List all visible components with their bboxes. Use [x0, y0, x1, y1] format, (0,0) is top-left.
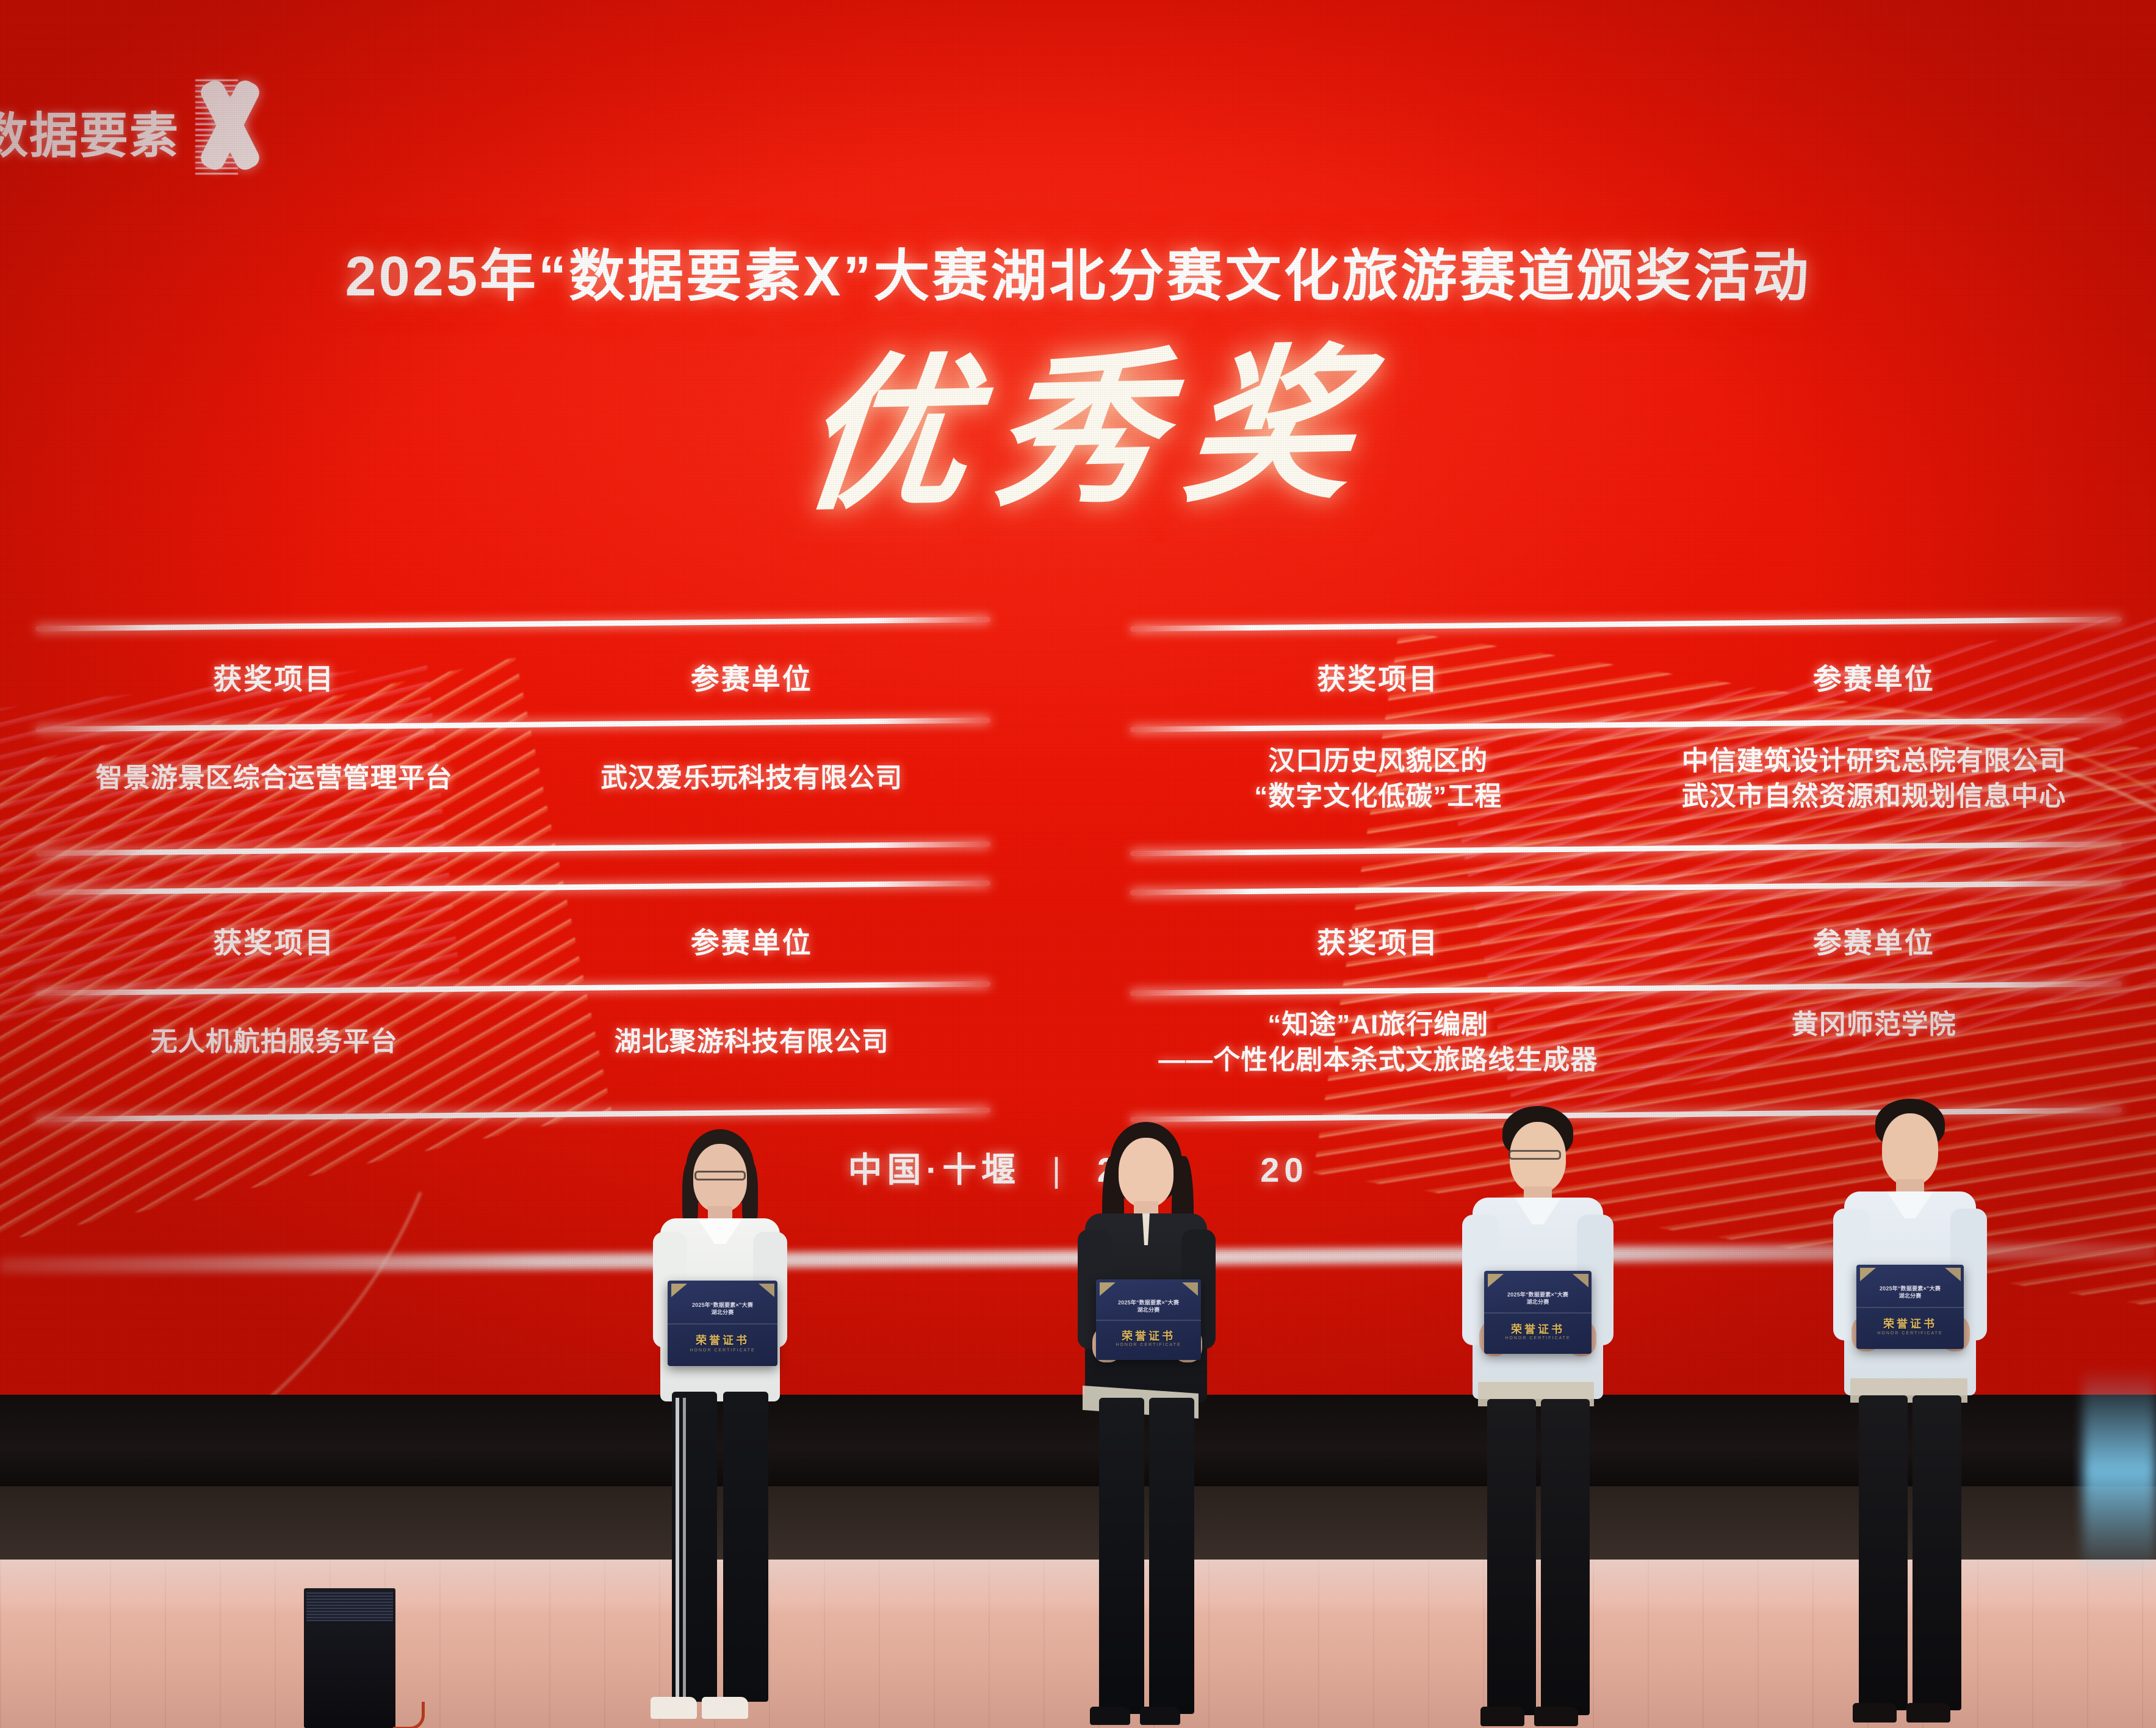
table-header-row: 获奖项目 参赛单位 — [35, 919, 990, 961]
column-header-project: 获奖项目 — [1130, 656, 1626, 698]
certificate-fold-line — [1096, 1320, 1201, 1321]
divider-line — [35, 841, 990, 856]
divider-line — [1130, 616, 2122, 632]
column-header-unit: 参赛单位 — [513, 656, 991, 698]
face — [1119, 1138, 1174, 1207]
table-header-row: 获奖项目 参赛单位 — [1130, 919, 2122, 961]
event-photo-stage: 数据要素 2025年“数据要素X”大赛湖北分赛文化旅游赛道颁奖活动 优秀奖 获奖… — [0, 0, 2156, 1728]
cell-project: 无人机航拍服务平台 — [35, 1024, 513, 1060]
column-header-project: 获奖项目 — [1130, 919, 1626, 961]
certificate-subtitle: HONOR CERTIFICATE — [668, 1348, 777, 1353]
speaker-cable — [393, 1702, 425, 1728]
certificate-title: 荣誉证书 — [1484, 1321, 1592, 1337]
certificate-fold-line — [1484, 1312, 1592, 1314]
trousers — [1095, 1398, 1197, 1715]
cell-project: 汉口历史风貌区的 “数字文化低碳”工程 — [1130, 743, 1626, 814]
leg-left — [1099, 1398, 1144, 1714]
honor-certificate: 2025年“数据要素×”大赛 湖北分赛 荣誉证书 HONOR CERTIFICA… — [1096, 1279, 1201, 1360]
honor-certificate: 2025年“数据要素×”大赛 湖北分赛 荣誉证书 HONOR CERTIFICA… — [1856, 1265, 1964, 1349]
footer-separator: | — [1052, 1150, 1066, 1190]
divider-line — [1130, 717, 2122, 732]
leg-right — [1541, 1399, 1590, 1715]
face — [1882, 1113, 1938, 1185]
column-header-project: 获奖项目 — [35, 919, 513, 961]
certificate-event-line: 2025年“数据要素×”大赛 湖北分赛 — [1856, 1285, 1964, 1300]
awardee-person-4: 2025年“数据要素×”大赛 湖北分赛 荣誉证书 HONOR CERTIFICA… — [1825, 1099, 1996, 1728]
divider-line — [35, 616, 990, 631]
certificate-subtitle: HONOR CERTIFICATE — [1856, 1331, 1964, 1336]
stage-monitor-speaker — [304, 1588, 395, 1728]
certificate-subtitle: HONOR CERTIFICATE — [1484, 1336, 1592, 1340]
certificate-corner-ornament — [1573, 1274, 1588, 1287]
shoe-left — [1090, 1707, 1130, 1725]
certificate-corner-ornament — [671, 1284, 687, 1297]
divider-line — [35, 981, 990, 996]
event-date-suffix: 20 — [1260, 1151, 1308, 1189]
trouser-stripe — [676, 1398, 679, 1702]
divider-line — [1130, 880, 2122, 895]
certificate-event-line: 2025年“数据要素×”大赛 湖北分赛 — [1096, 1299, 1201, 1314]
trousers — [1855, 1395, 1965, 1712]
winner-block-a: 获奖项目 参赛单位 智景游景区综合运营管理平台 武汉爱乐玩科技有限公司 — [35, 621, 990, 847]
shoe-left — [1480, 1707, 1524, 1726]
awardee-person-1: 2025年“数据要素×”大赛 湖北分赛 荣誉证书 HONOR CERTIFICA… — [641, 1129, 799, 1728]
certificate-event-line: 2025年“数据要素×”大赛 湖北分赛 — [1484, 1291, 1592, 1306]
winner-block-b: 获奖项目 参赛单位 汉口历史风貌区的 “数字文化低碳”工程 中信建筑设计研究总院… — [1130, 621, 2122, 847]
certificate-corner-ornament — [1182, 1282, 1198, 1296]
certificate-corner-ornament — [1945, 1268, 1961, 1281]
column-header-project: 获奖项目 — [35, 656, 513, 698]
shoe-right — [1534, 1707, 1578, 1726]
certificate-fold-line — [668, 1323, 777, 1325]
certificate-title: 荣誉证书 — [1856, 1315, 1964, 1331]
cell-unit: 武汉爱乐玩科技有限公司 — [513, 761, 991, 796]
shoe-right — [1140, 1707, 1180, 1725]
shoe-left — [1853, 1703, 1897, 1723]
trouser-stripe — [683, 1398, 686, 1702]
glasses-icon — [694, 1171, 746, 1180]
winner-block-d: 获奖项目 参赛单位 “知途”AI旅行编剧 ——个性化剧本杀式文旅路线生成器 黄冈… — [1130, 885, 2122, 1129]
cell-project: 智景游景区综合运营管理平台 — [35, 761, 513, 796]
certificate-corner-ornament — [759, 1284, 774, 1297]
awardee-person-2: 2025年“数据要素×”大赛 湖北分赛 荣誉证书 HONOR CERTIFICA… — [1067, 1122, 1225, 1728]
column-header-unit: 参赛单位 — [513, 919, 991, 961]
certificate-corner-ornament — [1488, 1274, 1504, 1287]
winner-block-c: 获奖项目 参赛单位 无人机航拍服务平台 湖北聚游科技有限公司 — [35, 885, 990, 1129]
certificate-event-line: 2025年“数据要素×”大赛 湖北分赛 — [668, 1301, 777, 1316]
divider-line — [1130, 981, 2122, 996]
shoe-right — [1906, 1703, 1950, 1723]
column-header-unit: 参赛单位 — [1626, 919, 2122, 961]
shoe-left — [651, 1697, 697, 1719]
cell-project: “知途”AI旅行编剧 ——个性化剧本杀式文旅路线生成器 — [1130, 1007, 1626, 1078]
cell-unit: 中信建筑设计研究总院有限公司 武汉市自然资源和规划信息中心 — [1626, 743, 2122, 814]
shoe-right — [702, 1697, 748, 1719]
leg-left — [1487, 1399, 1536, 1715]
table-row: “知途”AI旅行编剧 ——个性化剧本杀式文旅路线生成器 黄冈师范学院 — [1130, 1007, 2122, 1078]
event-location: 中国·十堰 — [848, 1151, 1020, 1189]
table-row: 无人机航拍服务平台 湖北聚游科技有限公司 — [35, 1024, 990, 1060]
table-header-row: 获奖项目 参赛单位 — [1130, 656, 2122, 698]
speaker-grille — [306, 1592, 393, 1621]
glasses-icon — [1509, 1150, 1561, 1160]
leg-right — [1913, 1395, 1961, 1710]
certificate-fold-line — [1856, 1307, 1964, 1308]
certificate-subtitle: HONOR CERTIFICATE — [1096, 1343, 1201, 1347]
certificate-corner-ornament — [1860, 1268, 1876, 1281]
table-row: 汉口历史风貌区的 “数字文化低碳”工程 中信建筑设计研究总院有限公司 武汉市自然… — [1130, 743, 2122, 814]
leg-left — [1859, 1395, 1908, 1710]
divider-line — [35, 717, 990, 732]
certificate-title: 荣誉证书 — [1096, 1328, 1201, 1343]
honor-certificate: 2025年“数据要素×”大赛 湖北分赛 荣誉证书 HONOR CERTIFICA… — [668, 1281, 777, 1366]
cell-unit: 黄冈师范学院 — [1626, 1007, 2122, 1078]
divider-line — [35, 1107, 990, 1122]
cell-unit: 湖北聚游科技有限公司 — [513, 1024, 991, 1060]
certificate-corner-ornament — [1100, 1282, 1116, 1296]
leg-right — [1149, 1398, 1194, 1714]
divider-line — [35, 880, 990, 895]
divider-line — [1130, 841, 2122, 856]
side-led-glow — [2083, 1367, 2156, 1575]
table-header-row: 获奖项目 参赛单位 — [35, 656, 990, 698]
column-header-unit: 参赛单位 — [1626, 656, 2122, 698]
certificate-title: 荣誉证书 — [668, 1332, 777, 1348]
trousers — [667, 1392, 773, 1703]
awardee-person-3: 2025年“数据要素×”大赛 湖北分赛 荣誉证书 HONOR CERTIFICA… — [1452, 1106, 1623, 1728]
leg-right — [723, 1392, 768, 1702]
table-row: 智景游景区综合运营管理平台 武汉爱乐玩科技有限公司 — [35, 761, 990, 796]
trousers — [1484, 1399, 1592, 1716]
honor-certificate: 2025年“数据要素×”大赛 湖北分赛 荣誉证书 HONOR CERTIFICA… — [1484, 1271, 1592, 1354]
